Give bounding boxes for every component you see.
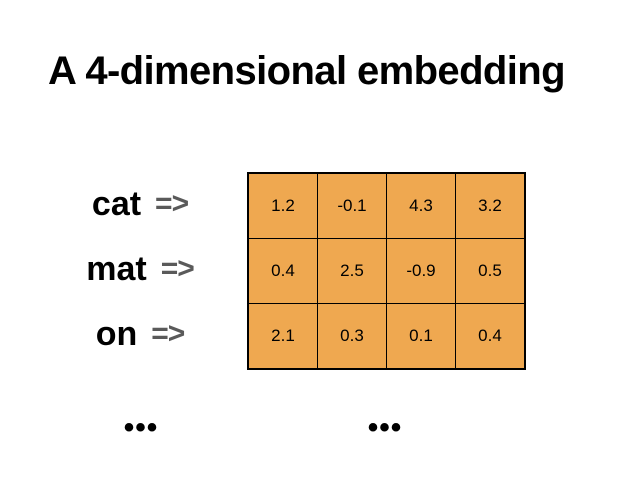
- word-label-column: cat => mat => on =>: [40, 172, 240, 366]
- ellipsis-matrix: •••: [368, 413, 403, 443]
- arrow-icon-on: =>: [151, 319, 184, 349]
- matrix-cell: 0.4: [248, 239, 318, 304]
- slide-canvas: A 4-dimensional embedding cat => mat => …: [0, 0, 638, 484]
- matrix-cell: 2.1: [248, 304, 318, 370]
- table-row: 2.1 0.3 0.1 0.4: [248, 304, 525, 370]
- matrix-cell: 1.2: [248, 173, 318, 239]
- word-label-cat: cat: [92, 187, 141, 221]
- matrix-cell: 0.1: [387, 304, 456, 370]
- table-row: 0.4 2.5 -0.9 0.5: [248, 239, 525, 304]
- matrix-cell: 0.4: [456, 304, 526, 370]
- label-row-mat: mat =>: [40, 237, 240, 302]
- word-label-on: on: [96, 317, 138, 351]
- word-label-mat: mat: [86, 252, 146, 286]
- arrow-icon-mat: =>: [161, 254, 194, 284]
- label-row-cat: cat =>: [40, 172, 240, 237]
- matrix-cell: -0.1: [318, 173, 387, 239]
- matrix-cell: 2.5: [318, 239, 387, 304]
- table-row: 1.2 -0.1 4.3 3.2: [248, 173, 525, 239]
- matrix-cell: -0.9: [387, 239, 456, 304]
- matrix-cell: 0.5: [456, 239, 526, 304]
- embedding-matrix: 1.2 -0.1 4.3 3.2 0.4 2.5 -0.9 0.5 2.1 0.…: [247, 172, 526, 370]
- matrix-cell: 4.3: [387, 173, 456, 239]
- ellipsis-labels: •••: [124, 413, 159, 443]
- matrix-cell: 3.2: [456, 173, 526, 239]
- label-row-on: on =>: [40, 301, 240, 366]
- page-title: A 4-dimensional embedding: [48, 48, 608, 94]
- arrow-icon-cat: =>: [155, 189, 188, 219]
- matrix-cell: 0.3: [318, 304, 387, 370]
